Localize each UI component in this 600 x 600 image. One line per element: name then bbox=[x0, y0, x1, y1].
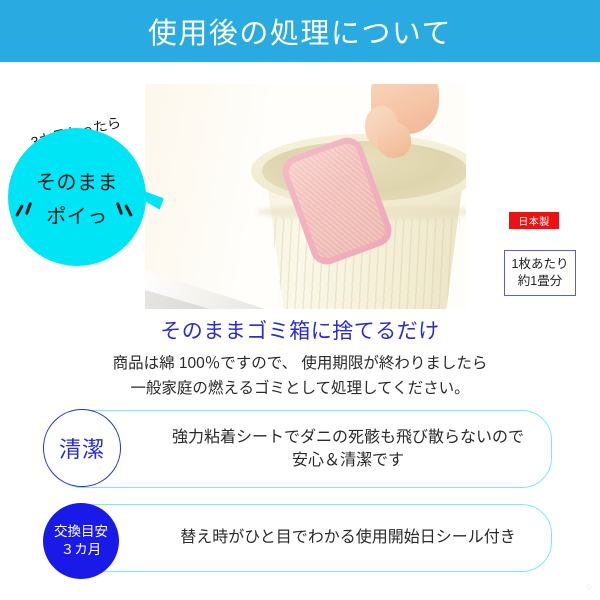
feature-badge-label-bottom: ３カ月 bbox=[61, 541, 102, 559]
coverage-box: 1枚あたり 約1畳分 bbox=[504, 250, 576, 296]
feature-pill-cleanliness: 強力粘着シートでダニの死骸も飛び散らないので 安心＆清潔です bbox=[52, 410, 552, 488]
feature-line1: 替え時がひと目でわかる使用開始日シール付き bbox=[180, 526, 516, 549]
emphasis-marks-left-icon bbox=[16, 202, 36, 224]
lead-body: 商品は綿 100％ですので、 使用期限が終わりましたら 一般家庭の燃えるゴミとし… bbox=[0, 352, 600, 402]
feature-pill-replacement: 替え時がひと目でわかる使用開始日シール付き bbox=[52, 504, 552, 572]
speech-bubble-line1: そのまま bbox=[8, 166, 146, 195]
hand bbox=[357, 84, 443, 174]
coverage-line1: 1枚あたり bbox=[512, 256, 569, 273]
feature-line1: 強力粘着シートでダニの死骸も飛び散らないので bbox=[172, 426, 524, 449]
feature-badge-label: 清潔 bbox=[59, 432, 105, 464]
lead-heading: そのままゴミ箱に捨てるだけ bbox=[0, 315, 600, 345]
feature-text-cleanliness: 強力粘着シートでダニの死骸も飛び散らないので 安心＆清潔です bbox=[163, 411, 533, 487]
feature-badge-replacement: 交換目安 ３カ月 bbox=[43, 503, 119, 579]
lead-body-line1: 商品は綿 100％ですので、 使用期限が終わりましたら bbox=[0, 352, 600, 377]
made-in-japan-badge: 日本製 bbox=[509, 212, 559, 229]
feature-badge-label-top: 交換目安 bbox=[54, 523, 108, 541]
feature-badge-cleanliness: 清潔 bbox=[43, 409, 121, 487]
coverage-line2: 約1畳分 bbox=[518, 273, 562, 290]
speech-bubble: そのまま ポイっ bbox=[8, 128, 168, 274]
infographic-page: 使用後の処理について 3カ月たったら そのまま ポイっ bbox=[0, 0, 600, 600]
page-title: 使用後の処理について bbox=[0, 0, 600, 62]
speech-bubble-circle bbox=[8, 128, 146, 266]
lead-body-line2: 一般家庭の燃えるゴミとして処理してください。 bbox=[0, 377, 600, 402]
product-photo bbox=[145, 84, 466, 309]
feature-text-replacement: 替え時がひと目でわかる使用開始日シール付き bbox=[163, 505, 533, 571]
emphasis-marks-right-icon bbox=[116, 202, 136, 224]
footer-micro-text: ⓘ bbox=[586, 584, 592, 591]
feature-line2: 安心＆清潔です bbox=[292, 449, 404, 472]
